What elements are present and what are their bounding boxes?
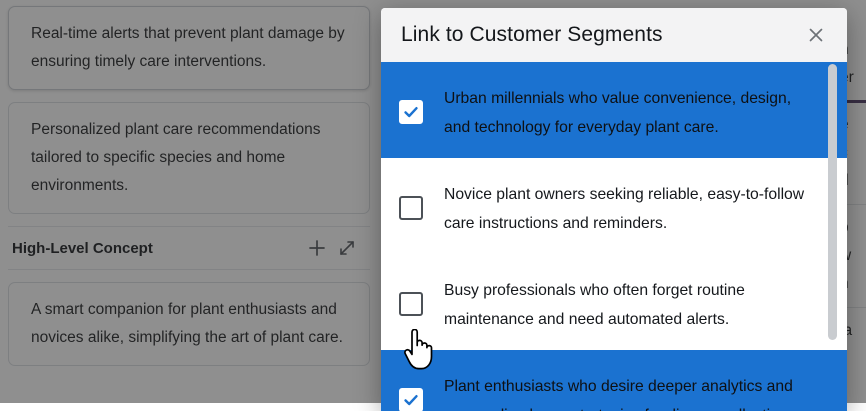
segment-option-row[interactable]: Busy professionals who often forget rout… [381, 254, 847, 350]
segment-label: Novice plant owners seeking reliable, ea… [444, 174, 817, 238]
segment-checkbox[interactable] [399, 388, 423, 411]
segment-list[interactable]: Urban millennials who value convenience,… [381, 62, 847, 411]
segment-label: Plant enthusiasts who desire deeper anal… [444, 366, 817, 411]
dialog-header: Link to Customer Segments [381, 8, 847, 62]
dialog-title: Link to Customer Segments [401, 23, 799, 47]
segment-label: Busy professionals who often forget rout… [444, 270, 817, 334]
link-to-customer-segments-dialog: Link to Customer Segments Urban millenni… [381, 8, 847, 411]
list-scrollbar-track[interactable] [833, 62, 842, 411]
segment-checkbox[interactable] [399, 196, 423, 220]
segment-option-row[interactable]: Urban millennials who value convenience,… [381, 62, 847, 158]
segment-label: Urban millennials who value convenience,… [444, 78, 817, 142]
segment-option-row[interactable]: Plant enthusiasts who desire deeper anal… [381, 350, 847, 411]
close-icon[interactable] [799, 18, 833, 52]
segment-checkbox[interactable] [399, 100, 423, 124]
segment-option-row[interactable]: Novice plant owners seeking reliable, ea… [381, 158, 847, 254]
list-scrollbar-thumb[interactable] [828, 64, 837, 340]
segment-checkbox[interactable] [399, 292, 423, 316]
